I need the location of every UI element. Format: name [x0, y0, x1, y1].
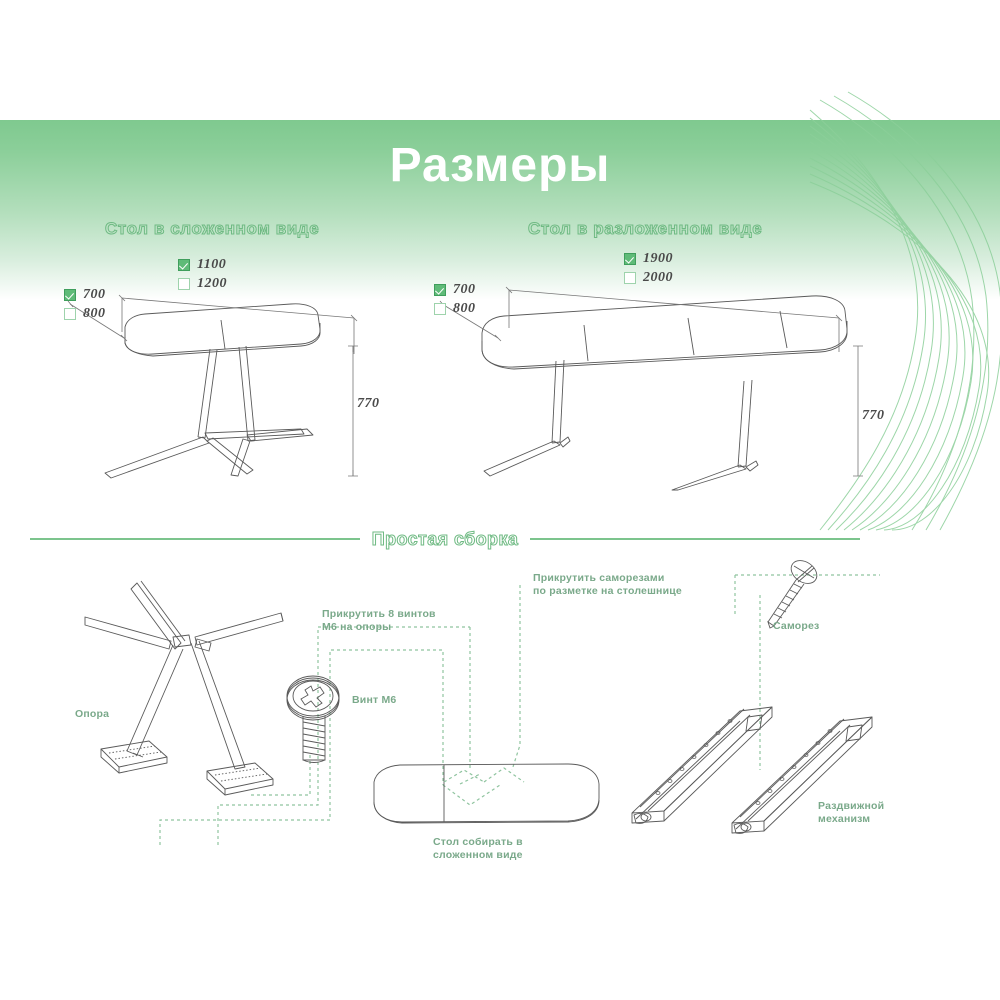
label-mechanism: Раздвижной механизм: [818, 800, 884, 825]
label-support: Опора: [75, 708, 109, 721]
label-bolt-instruction: Прикрутить 8 винтов М6 на опоры: [322, 608, 436, 633]
option-value: 800: [453, 301, 476, 317]
folded-height-dimension-line: [340, 340, 370, 485]
checkbox-checked-icon[interactable]: [64, 289, 76, 301]
option-row[interactable]: 1900: [624, 250, 673, 267]
label-screw-instruction: Прикрутить саморезами по разметке на сто…: [533, 572, 682, 597]
option-value: 2000: [643, 270, 673, 286]
folded-width-options[interactable]: 1100 1200: [178, 256, 227, 294]
section-heading-folded: Стол в сложенном виде: [105, 219, 319, 239]
extended-width-options[interactable]: 1900 2000: [624, 250, 673, 288]
option-row[interactable]: 2000: [624, 269, 673, 286]
checkbox-unchecked-icon[interactable]: [624, 272, 636, 284]
extended-width-dimension-line: [505, 282, 845, 357]
support-leg-drawing: [85, 565, 305, 805]
option-row[interactable]: 800: [64, 305, 106, 322]
folded-depth-options[interactable]: 700 800: [64, 286, 106, 324]
checkbox-checked-icon[interactable]: [624, 253, 636, 265]
option-value: 800: [83, 306, 106, 322]
option-row[interactable]: 700: [64, 286, 106, 303]
option-row[interactable]: 1100: [178, 256, 227, 273]
extended-depth-options[interactable]: 700 800: [434, 281, 476, 319]
folded-height-value: 770: [357, 396, 380, 412]
divider-line-right: [530, 538, 860, 540]
checkbox-unchecked-icon[interactable]: [434, 303, 446, 315]
checkbox-checked-icon[interactable]: [178, 259, 190, 271]
option-row[interactable]: 700: [434, 281, 476, 298]
page-title: Размеры: [0, 138, 1000, 193]
infographic-page: Размеры Стол в сложенном виде Стол в раз…: [0, 0, 1000, 1000]
option-value: 1900: [643, 251, 673, 267]
folded-width-dimension-line: [118, 290, 358, 360]
label-tabletop-note: Стол собирать в сложенном виде: [433, 836, 523, 861]
section-heading-extended: Стол в разложенном виде: [528, 219, 762, 239]
checkbox-unchecked-icon[interactable]: [64, 308, 76, 320]
option-row[interactable]: 1200: [178, 275, 227, 292]
option-value: 700: [83, 287, 106, 303]
divider-line-left: [30, 538, 360, 540]
option-value: 700: [453, 282, 476, 298]
checkbox-unchecked-icon[interactable]: [178, 278, 190, 290]
label-screw: Саморез: [773, 620, 819, 633]
m6-bolt-drawing: [283, 672, 348, 772]
label-bolt: Винт М6: [352, 694, 396, 707]
tabletop-assembly-drawing: [360, 760, 610, 830]
option-value: 1200: [197, 276, 227, 292]
option-value: 1100: [197, 257, 226, 273]
assembly-section-divider: Простая сборка: [30, 527, 860, 551]
checkbox-checked-icon[interactable]: [434, 284, 446, 296]
assembly-heading: Простая сборка: [372, 529, 519, 550]
extended-height-value: 770: [862, 408, 885, 424]
option-row[interactable]: 800: [434, 300, 476, 317]
